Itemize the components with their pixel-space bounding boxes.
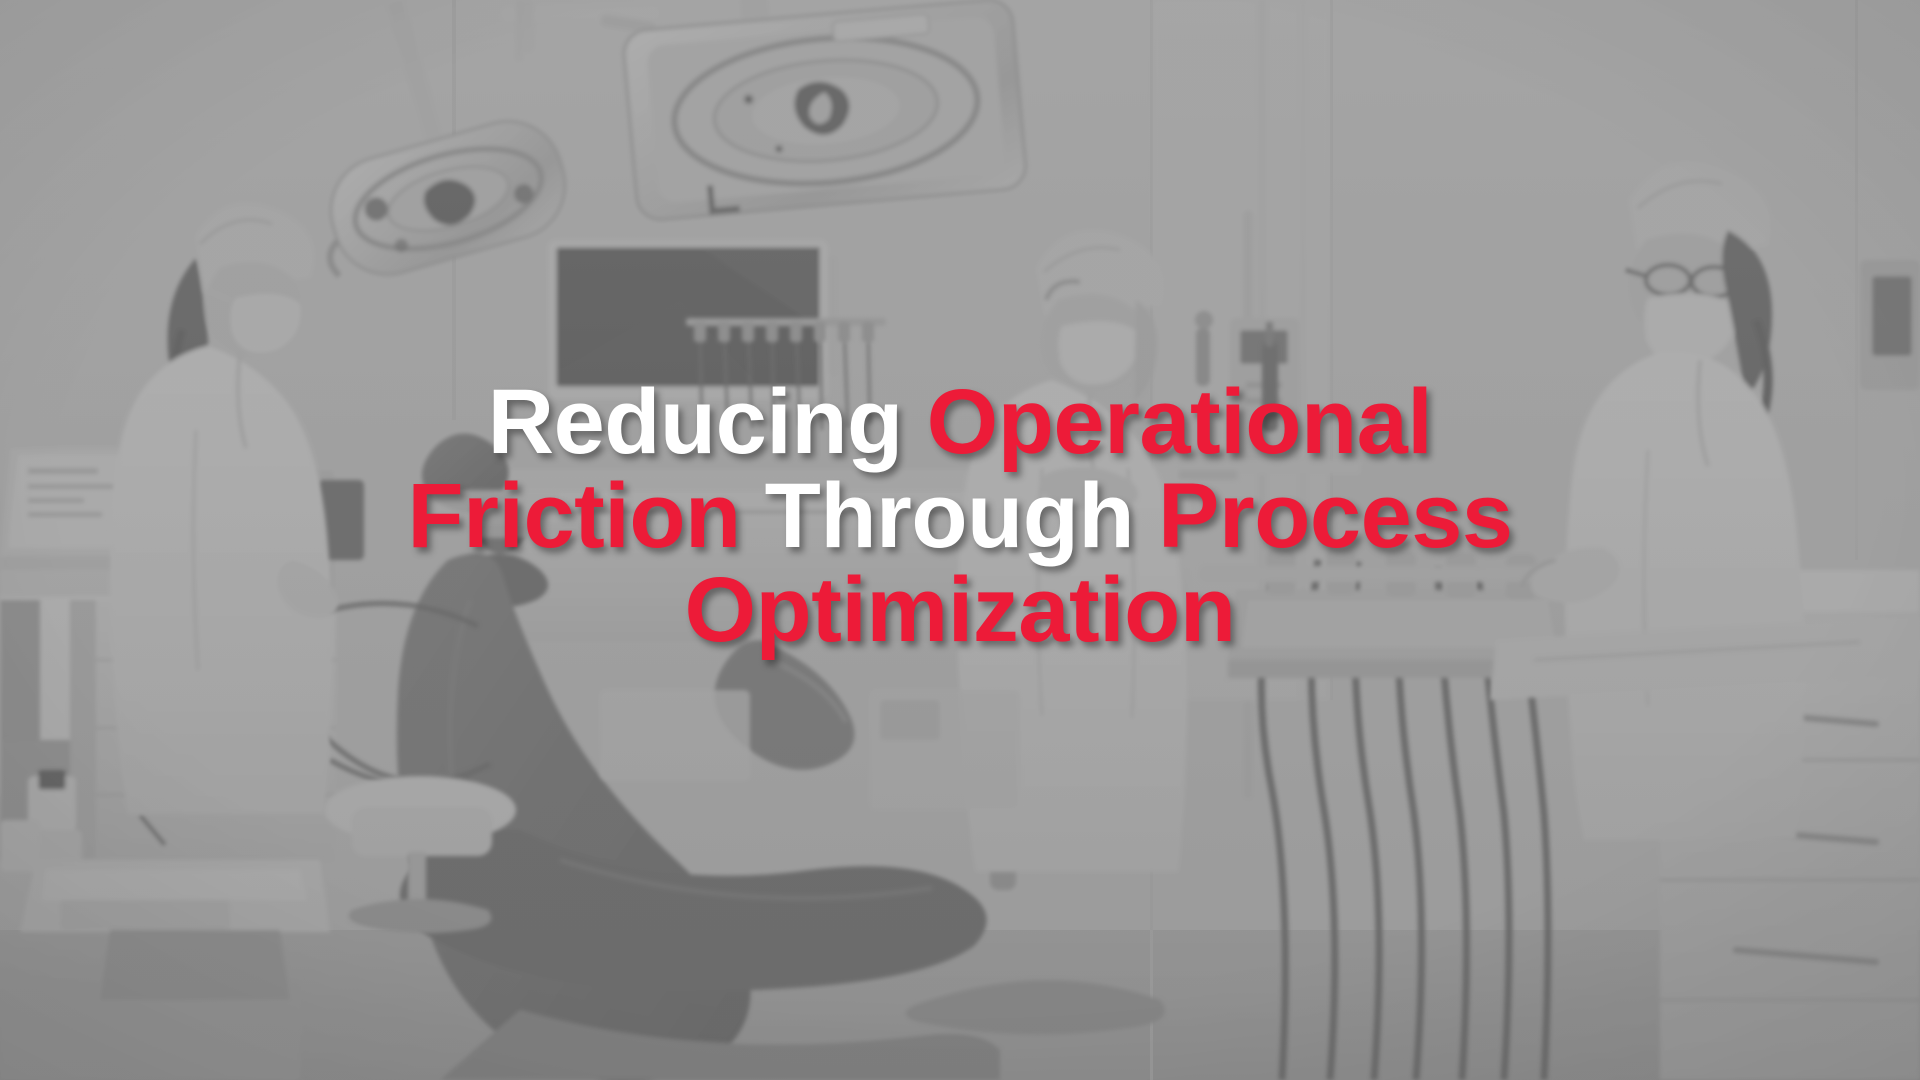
headline-line-3: Optimization <box>40 564 1880 658</box>
headline-word-optimization: Optimization <box>684 559 1235 661</box>
headline-line-1: ReducingOperational <box>40 376 1880 470</box>
headline-word-operational: Operational <box>927 371 1433 473</box>
hero-banner: ReducingOperational FrictionThroughProce… <box>0 0 1920 1080</box>
headline-line-2: FrictionThroughProcess <box>40 470 1880 564</box>
headline-word-process: Process <box>1158 465 1513 567</box>
headline-block: ReducingOperational FrictionThroughProce… <box>0 376 1920 657</box>
headline-word-through: Through <box>765 465 1135 567</box>
headline-word-friction: Friction <box>407 465 740 567</box>
headline-word-reducing: Reducing <box>488 371 903 473</box>
